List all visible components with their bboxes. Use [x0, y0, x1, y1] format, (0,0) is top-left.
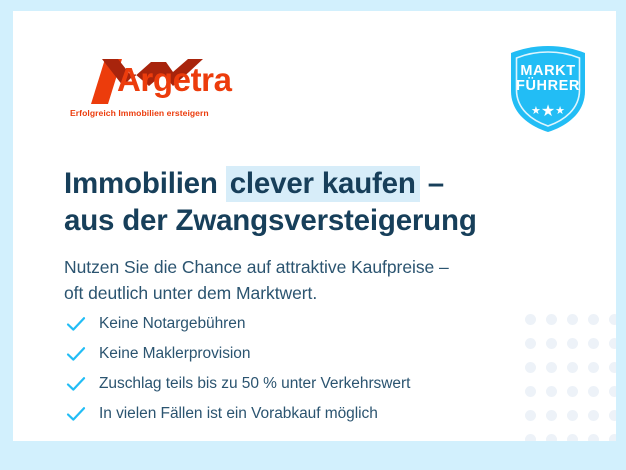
- dot-decoration: [588, 434, 599, 441]
- dot-decoration: [525, 386, 536, 397]
- logo-wordmark: Argetra: [117, 63, 232, 96]
- dot-grid-decoration: [525, 314, 616, 441]
- dot-decoration: [609, 338, 616, 349]
- headline-part-2: –: [420, 167, 444, 200]
- market-leader-badge: MARKT FÜHRER ★★★: [505, 43, 591, 135]
- dot-decoration: [525, 338, 536, 349]
- dot-decoration: [567, 410, 578, 421]
- dot-decoration: [588, 386, 599, 397]
- argetra-logo: Argetra Erfolgreich Immobilien ersteiger…: [69, 56, 269, 118]
- logo-tagline: Erfolgreich Immobilien ersteigern: [70, 108, 209, 118]
- dot-decoration: [546, 410, 557, 421]
- dot-decoration: [525, 362, 536, 373]
- benefit-list: Keine NotargebührenKeine Maklerprovision…: [65, 309, 515, 429]
- content-card: Argetra Erfolgreich Immobilien ersteiger…: [13, 11, 616, 441]
- badge-line-1: MARKT: [505, 64, 591, 79]
- dot-decoration: [567, 434, 578, 441]
- list-item-label: In vielen Fällen ist ein Vorabkauf mögli…: [99, 405, 378, 423]
- star-icon-center: ★: [541, 103, 555, 120]
- list-item: Zuschlag teils bis zu 50 % unter Verkehr…: [65, 369, 515, 399]
- dot-decoration: [546, 386, 557, 397]
- list-item: Keine Maklerprovision: [65, 339, 515, 369]
- star-icon-right: ★: [555, 105, 565, 117]
- list-item: Keine Notargebühren: [65, 309, 515, 339]
- dot-decoration: [525, 314, 536, 325]
- star-icon-left: ★: [531, 105, 541, 117]
- badge-line-2: FÜHRER: [505, 79, 591, 94]
- page-title: Immobilien clever kaufen – aus der Zwang…: [64, 165, 534, 239]
- check-icon: [65, 313, 87, 335]
- dot-decoration: [567, 386, 578, 397]
- subheadline: Nutzen Sie die Chance auf attraktive Kau…: [64, 254, 544, 307]
- list-item-label: Zuschlag teils bis zu 50 % unter Verkehr…: [99, 375, 410, 393]
- dot-decoration: [525, 434, 536, 441]
- check-icon: [65, 403, 87, 425]
- dot-decoration: [609, 386, 616, 397]
- badge-stars: ★★★: [505, 101, 591, 121]
- subheadline-line-1: Nutzen Sie die Chance auf attraktive Kau…: [64, 257, 449, 277]
- dot-decoration: [588, 338, 599, 349]
- dot-decoration: [588, 410, 599, 421]
- list-item: In vielen Fällen ist ein Vorabkauf mögli…: [65, 399, 515, 429]
- check-icon: [65, 343, 87, 365]
- dot-decoration: [525, 410, 536, 421]
- headline-line-2: aus der Zwangsversteigerung: [64, 204, 477, 237]
- check-icon: [65, 373, 87, 395]
- dot-decoration: [546, 338, 557, 349]
- dot-decoration: [567, 314, 578, 325]
- dot-decoration: [546, 362, 557, 373]
- dot-decoration: [609, 314, 616, 325]
- dot-decoration: [609, 434, 616, 441]
- headline-part-1: Immobilien: [64, 167, 226, 200]
- outer-frame: Argetra Erfolgreich Immobilien ersteiger…: [0, 0, 626, 470]
- dot-decoration: [546, 434, 557, 441]
- dot-decoration: [567, 338, 578, 349]
- headline-highlight: clever kaufen: [226, 166, 420, 202]
- list-item-label: Keine Notargebühren: [99, 315, 245, 333]
- dot-decoration: [567, 362, 578, 373]
- badge-text: MARKT FÜHRER: [505, 64, 591, 94]
- dot-decoration: [588, 362, 599, 373]
- subheadline-line-2: oft deutlich unter dem Marktwert.: [64, 283, 317, 303]
- dot-decoration: [546, 314, 557, 325]
- dot-decoration: [609, 410, 616, 421]
- dot-decoration: [609, 362, 616, 373]
- list-item-label: Keine Maklerprovision: [99, 345, 250, 363]
- dot-decoration: [588, 314, 599, 325]
